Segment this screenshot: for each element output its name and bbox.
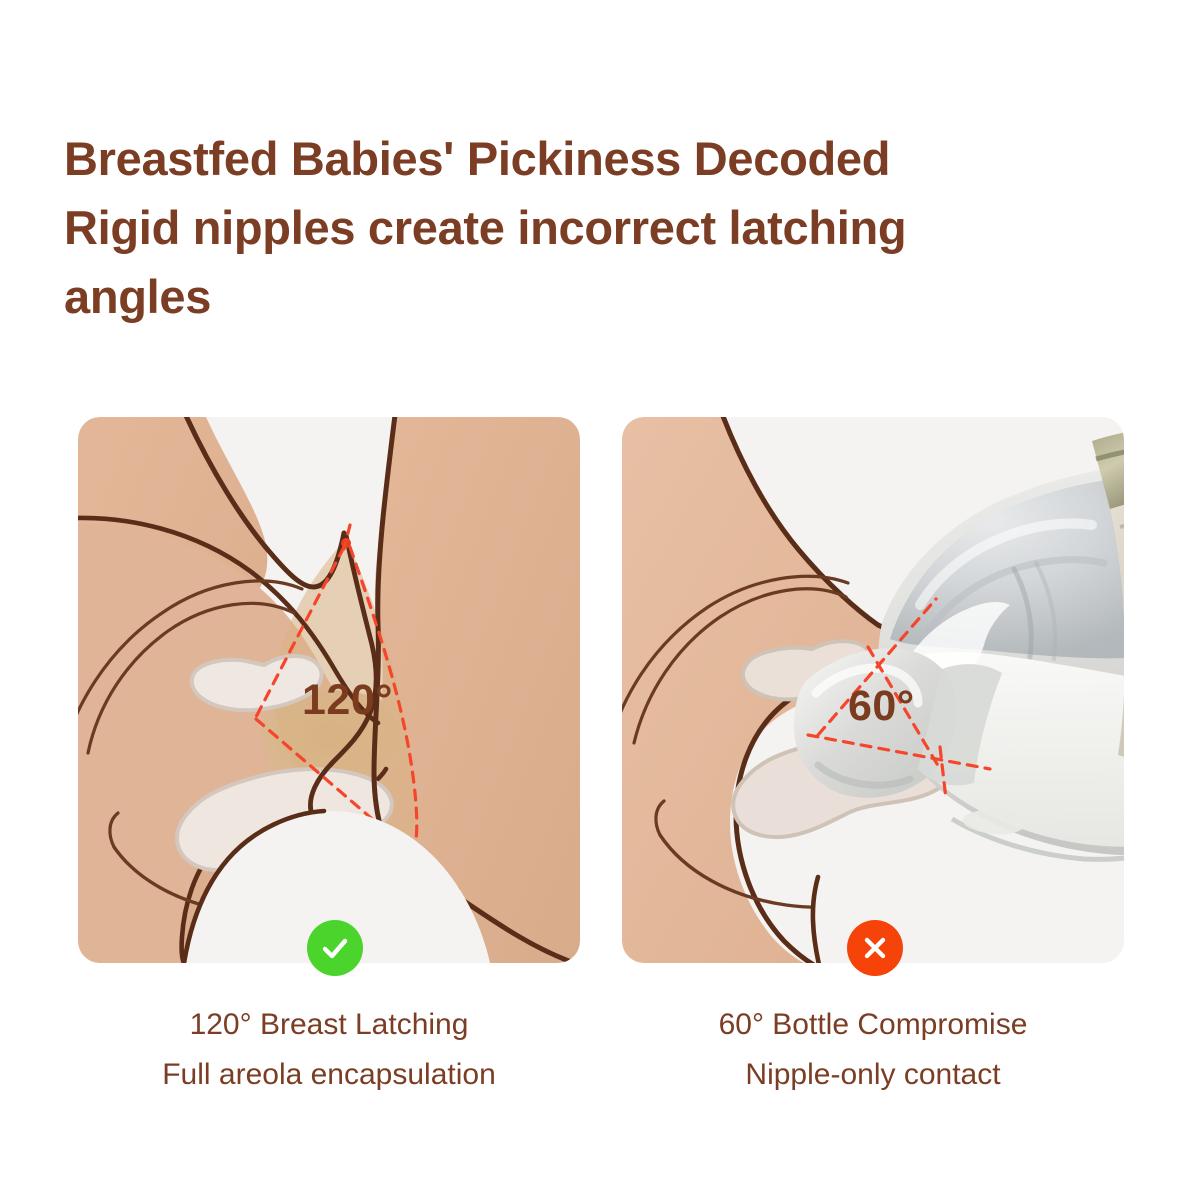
caption-right-line-2: Nipple-only contact xyxy=(622,1050,1124,1100)
caption-left-line-2: Full areola encapsulation xyxy=(78,1050,580,1100)
status-badge-incorrect xyxy=(847,920,903,976)
bottle-latching-illustration xyxy=(622,417,1124,963)
breast-latching-illustration xyxy=(78,417,580,963)
caption-breast-latching: 120° Breast Latching Full areola encapsu… xyxy=(78,1000,580,1100)
title-line-1: Breastfed Babies' Pickiness Decoded xyxy=(64,124,1164,193)
caption-left-line-1: 120° Breast Latching xyxy=(78,1000,580,1050)
cross-icon xyxy=(858,931,892,965)
infographic-page: Breastfed Babies' Pickiness Decoded Rigi… xyxy=(0,0,1200,1200)
page-title: Breastfed Babies' Pickiness Decoded Rigi… xyxy=(64,124,1164,331)
status-badge-correct xyxy=(307,920,363,976)
caption-right-line-1: 60° Bottle Compromise xyxy=(622,1000,1124,1050)
comparison-panels xyxy=(0,417,1200,963)
title-line-3: angles xyxy=(64,262,1164,331)
check-icon xyxy=(318,931,352,965)
caption-bottle-compromise: 60° Bottle Compromise Nipple-only contac… xyxy=(622,1000,1124,1100)
panel-bottle-compromise[interactable] xyxy=(622,417,1124,963)
title-line-2: Rigid nipples create incorrect latching xyxy=(64,193,1164,262)
panel-breast-latching[interactable] xyxy=(78,417,580,963)
